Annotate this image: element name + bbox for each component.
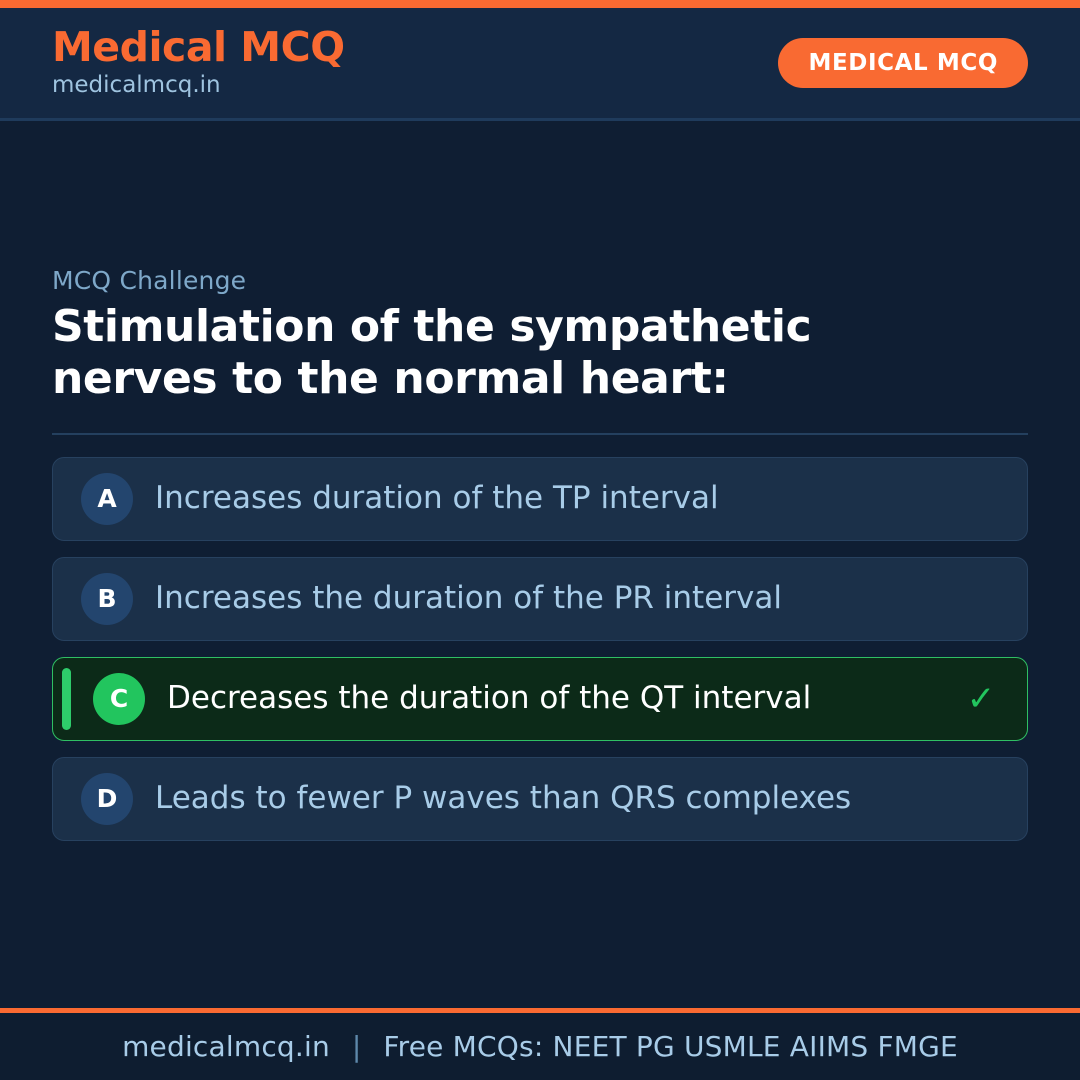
top-accent-strip xyxy=(0,0,1080,8)
option-d-text: Leads to fewer P waves than QRS complexe… xyxy=(155,780,939,817)
option-c-text: Decreases the duration of the QT interva… xyxy=(167,680,939,717)
question-divider xyxy=(52,433,1028,435)
correct-accent-bar xyxy=(62,668,71,730)
main-content: MCQ Challenge Stimulation of the sympath… xyxy=(0,121,1080,1008)
footer-site[interactable]: medicalmcq.in xyxy=(122,1030,330,1063)
option-c-letter: C xyxy=(93,673,145,725)
option-c-correct[interactable]: C Decreases the duration of the QT inter… xyxy=(52,657,1028,741)
option-b-letter: B xyxy=(81,573,133,625)
option-a-text: Increases duration of the TP interval xyxy=(155,480,939,517)
option-a[interactable]: A Increases duration of the TP interval xyxy=(52,457,1028,541)
eyebrow-label: MCQ Challenge xyxy=(52,266,1028,295)
brand-subtitle: medicalmcq.in xyxy=(52,71,345,101)
question-block: MCQ Challenge Stimulation of the sympath… xyxy=(52,266,1028,841)
option-b[interactable]: B Increases the duration of the PR inter… xyxy=(52,557,1028,641)
footer-tagline: Free MCQs: NEET PG USMLE AIIMS FMGE xyxy=(383,1030,958,1063)
page-header: Medical MCQ medicalmcq.in MEDICAL MCQ xyxy=(0,8,1080,121)
brand: Medical MCQ medicalmcq.in xyxy=(52,25,345,101)
option-a-letter: A xyxy=(81,473,133,525)
checkmark-icon: ✓ xyxy=(961,682,1001,716)
question-text: Stimulation of the sympathetic nerves to… xyxy=(52,301,982,405)
option-d[interactable]: D Leads to fewer P waves than QRS comple… xyxy=(52,757,1028,841)
footer-separator: | xyxy=(330,1030,383,1063)
brand-title: Medical MCQ xyxy=(52,25,345,69)
options-list: A Increases duration of the TP interval … xyxy=(52,457,1028,841)
page-footer: medicalmcq.in | Free MCQs: NEET PG USMLE… xyxy=(0,1008,1080,1080)
option-d-letter: D xyxy=(81,773,133,825)
header-badge: MEDICAL MCQ xyxy=(778,38,1028,88)
option-b-text: Increases the duration of the PR interva… xyxy=(155,580,939,617)
